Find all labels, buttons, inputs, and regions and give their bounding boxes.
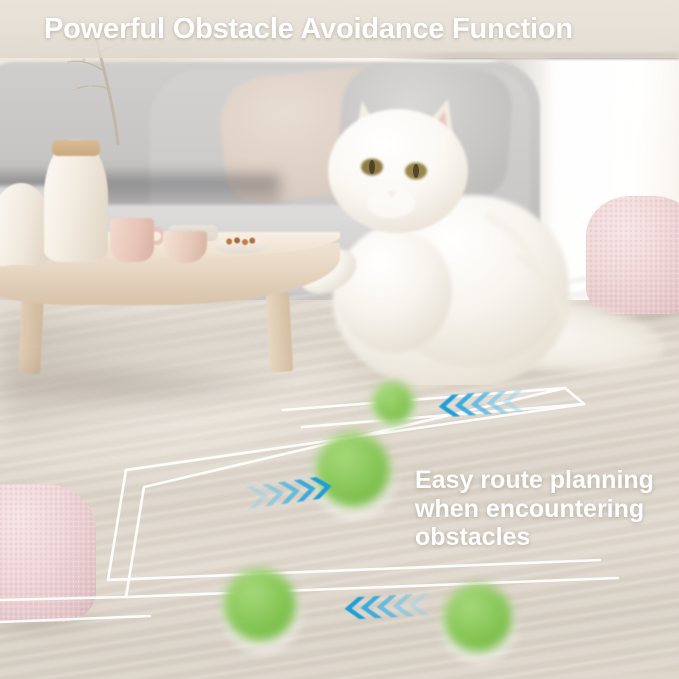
feature-caption: Easy route planning when encountering ob… — [415, 466, 673, 552]
arrows-top — [438, 390, 524, 418]
caption-line-3: obstacles — [415, 523, 673, 552]
caption-line-2: when encountering — [415, 495, 673, 524]
product-feature-image: Easy route planning when encountering ob… — [0, 0, 679, 679]
route-direction-arrows — [0, 0, 679, 679]
caption-line-1: Easy route planning — [415, 466, 673, 495]
route-planning-overlay — [0, 0, 679, 679]
header-band: Powerful Obstacle Avoidance Function — [0, 0, 679, 58]
arrows-bottom — [344, 593, 430, 619]
page-title: Powerful Obstacle Avoidance Function — [0, 13, 573, 46]
arrows-middle — [246, 475, 333, 509]
